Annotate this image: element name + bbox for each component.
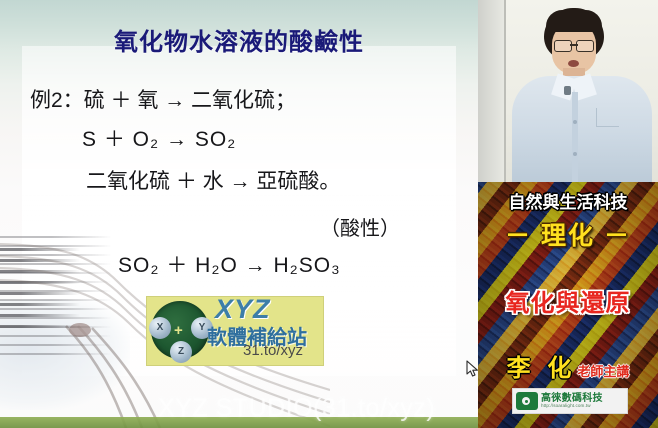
video-wall-left — [478, 0, 506, 182]
branding-topic: 氧化與還原 — [478, 283, 658, 318]
lapel-microphone-icon — [564, 86, 571, 95]
studio-footer-text: XYZ STUDIO(31.to/xyz) — [158, 394, 435, 423]
company-url: http://soaralight.com.tw — [541, 404, 603, 409]
instructor-shirt-pocket — [596, 108, 619, 127]
mouse-cursor-icon — [466, 360, 478, 378]
instructor-video-feed[interactable] — [478, 0, 658, 182]
branding-course: － 理化 － — [478, 216, 658, 252]
slide-line-4: （酸性） — [320, 212, 400, 241]
atom-x-icon: X — [149, 317, 171, 339]
teacher-role: 老師主講 — [577, 364, 629, 379]
xyz-watermark: X Y Z + XYZ 軟體補給站 31.to/xyz — [146, 296, 324, 366]
instructor-fringe — [546, 10, 602, 32]
plus-icon: + — [174, 322, 183, 339]
instructor-glasses-bridge — [570, 44, 578, 46]
atom-z-icon: Z — [170, 341, 192, 363]
instructor-shirt-button-2 — [573, 152, 577, 156]
instructor-shirt-button-1 — [573, 120, 577, 124]
slide-line-3: 二氧化硫 ＋ 水 → 亞硫酸。 — [86, 165, 340, 195]
instructor-glasses-right — [576, 40, 594, 52]
company-logo: 高徠數碼科技 http://soaralight.com.tw — [512, 388, 628, 414]
video-lesson-screenshot: 氧化物水溶液的酸鹼性 例2：硫 ＋ 氧 → 二氧化硫； S ＋ O₂ → SO₂… — [0, 0, 658, 428]
slide-line-5: SO₂ ＋ H₂O → H₂SO₃ — [118, 249, 341, 279]
instructor-glasses-left — [554, 40, 572, 52]
presentation-slide: 氧化物水溶液的酸鹼性 例2：硫 ＋ 氧 → 二氧化硫； S ＋ O₂ → SO₂… — [0, 0, 478, 428]
teacher-name: 李 化 — [507, 355, 577, 382]
branding-subject: 自然與生活科技 — [478, 188, 658, 213]
branding-teacher: 李 化老師主講 — [478, 348, 658, 383]
right-panel: 自然與生活科技 － 理化 － 氧化與還原 李 化老師主講 高徠數碼科技 http… — [478, 0, 658, 428]
watermark-url: 31.to/xyz — [243, 342, 303, 359]
slide-line-2: S ＋ O₂ → SO₂ — [82, 123, 236, 153]
slide-title: 氧化物水溶液的酸鹼性 — [0, 22, 478, 57]
slide-line-1: 例2：硫 ＋ 氧 → 二氧化硫； — [30, 84, 296, 114]
instructor-mouth — [568, 60, 579, 67]
company-logo-text: 高徠數碼科技 http://soaralight.com.tw — [541, 394, 603, 409]
instructor-shirt-placket — [572, 92, 578, 182]
company-logo-mark-icon — [516, 392, 538, 410]
